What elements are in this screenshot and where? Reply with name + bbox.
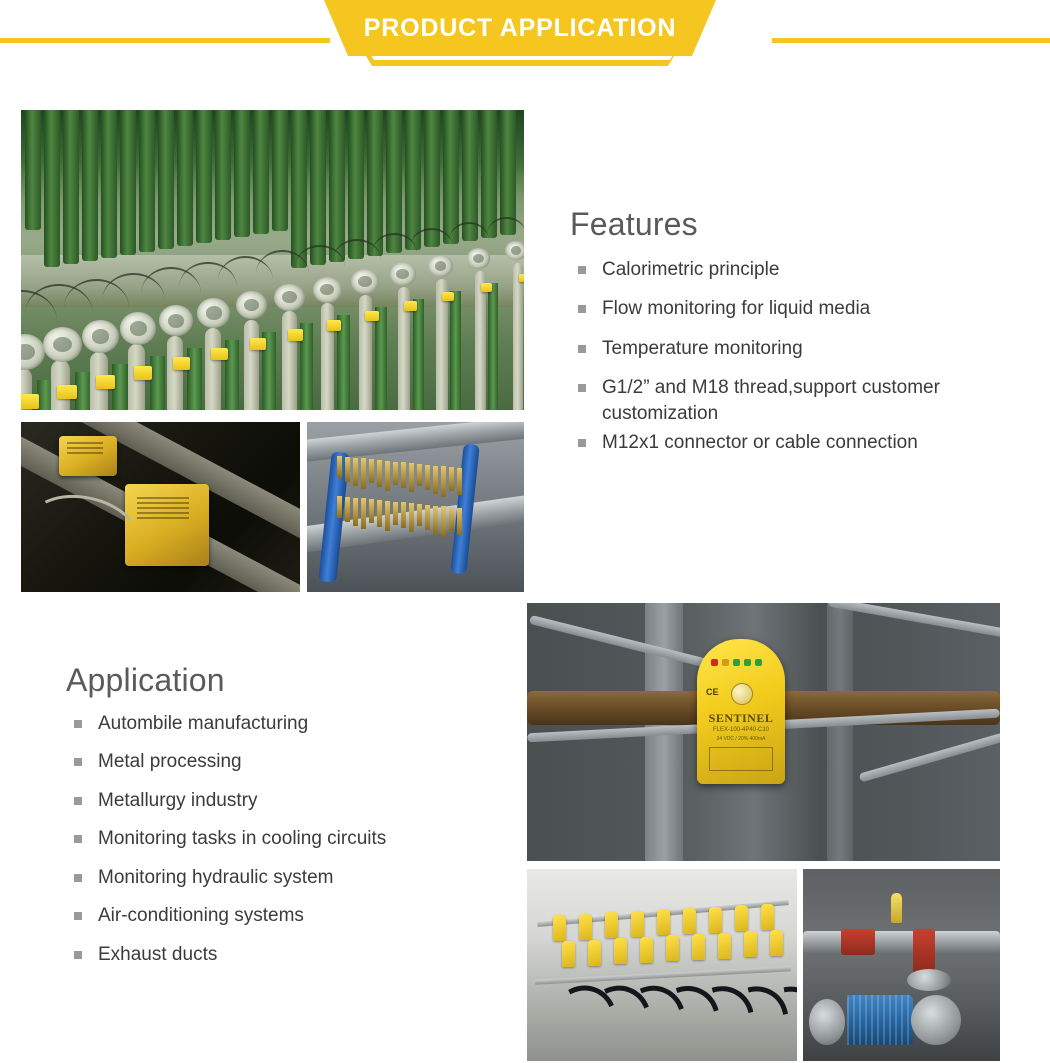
rack-yellow-sensor — [579, 914, 592, 940]
feature-item-label: M12x1 connector or cable connection — [602, 432, 918, 453]
pipe-column — [443, 110, 459, 244]
vertical-pipe — [150, 356, 165, 410]
yellow-flow-sensor — [21, 394, 39, 409]
u-bend-pipe — [513, 263, 523, 410]
page-header-banner: PRODUCT APPLICATION — [0, 0, 1050, 90]
led-green-2 — [744, 659, 751, 666]
manifold-tick — [393, 502, 398, 525]
banner-rule-right — [772, 38, 1050, 43]
manifold-tick — [441, 506, 446, 537]
manifold-tick — [401, 462, 406, 488]
photo-industrial-pipe-hall — [21, 110, 524, 410]
vertical-pipe — [413, 299, 424, 410]
square-bullet-icon — [578, 439, 586, 447]
pipe-column — [424, 110, 440, 247]
application-item: Metallurgy industry — [66, 788, 516, 813]
manifold-tick — [449, 467, 454, 491]
manifold-tick — [417, 504, 422, 526]
pipe-column — [44, 110, 60, 267]
wall-panel-2 — [827, 603, 853, 861]
led-green-3 — [755, 659, 762, 666]
application-list: Autombile manufacturingMetal processingM… — [66, 711, 516, 967]
pipe-column — [177, 110, 193, 246]
blue-pump-motor — [847, 995, 913, 1045]
square-bullet-icon — [74, 835, 82, 843]
rack-yellow-sensor — [562, 941, 575, 967]
pipe-column — [196, 110, 212, 243]
red-valve-2 — [913, 929, 935, 973]
vertical-pipe — [375, 307, 387, 410]
u-bend-pipe — [167, 336, 183, 410]
application-heading: Application — [66, 662, 516, 699]
manifold-tick — [425, 505, 430, 530]
features-heading: Features — [570, 206, 1000, 243]
square-bullet-icon — [74, 874, 82, 882]
u-bend-pipe — [475, 271, 486, 410]
pipe-column — [101, 110, 117, 258]
manifold-tick — [385, 501, 390, 531]
manifold-tick — [377, 500, 382, 527]
pipe-column — [310, 110, 326, 265]
feature-item: G1/2” and M18 thread,support customer cu… — [570, 375, 1000, 426]
sensor-secondary — [59, 436, 117, 476]
manifold-tick — [457, 468, 462, 495]
coupling-guard — [809, 999, 845, 1045]
features-list: Calorimetric principleFlow monitoring fo… — [570, 257, 1000, 456]
photo-blue-manifold — [307, 422, 524, 592]
photo-sensor-rack — [527, 869, 797, 1061]
manifold-tick — [425, 465, 430, 490]
ce-mark: CE — [706, 687, 719, 697]
application-item: Monitoring hydraulic system — [66, 865, 516, 890]
rack-yellow-sensor — [588, 940, 601, 966]
application-item-label: Metallurgy industry — [98, 790, 257, 811]
manifold-tick — [345, 457, 350, 482]
yellow-flow-sensor — [891, 893, 902, 923]
yellow-flow-sensor — [365, 311, 379, 321]
square-bullet-icon — [74, 912, 82, 920]
pipe-column — [234, 110, 250, 237]
application-item-label: Monitoring hydraulic system — [98, 867, 333, 888]
pipe-column — [82, 110, 98, 261]
manifold-tick — [361, 458, 366, 489]
feature-item: M12x1 connector or cable connection — [570, 430, 1000, 455]
manifold-tick — [337, 496, 342, 518]
feature-item-label: Flow monitoring for liquid media — [602, 298, 870, 319]
square-bullet-icon — [578, 384, 586, 392]
rack-yellow-sensor — [709, 907, 722, 933]
vertical-pipe — [75, 372, 91, 410]
page-title: PRODUCT APPLICATION — [364, 14, 676, 43]
manifold-tick — [353, 458, 358, 486]
vertical-pipe — [488, 283, 498, 410]
rack-yellow-sensor — [770, 930, 783, 956]
photo-sentinel-sensor-on-pipe: CE SENTINEL FLEX-100-4P40-C10 24 VDC / 2… — [527, 603, 1000, 861]
manifold-tick — [417, 464, 422, 486]
rack-yellow-sensor — [640, 937, 653, 963]
rack-yellow-sensor — [631, 911, 644, 937]
manifold-tick — [409, 503, 414, 532]
manifold-tick — [353, 498, 358, 526]
application-section: Application Autombile manufacturingMetal… — [66, 662, 516, 967]
rack-yellow-sensor — [657, 909, 670, 935]
sentinel-flow-sensor: CE SENTINEL FLEX-100-4P40-C10 24 VDC / 2… — [697, 639, 785, 784]
sensor-wire — [410, 228, 453, 267]
square-bullet-icon — [74, 797, 82, 805]
device-spec-label: 24 VDC / 20% 400mA — [703, 736, 779, 742]
adjustment-dial[interactable] — [731, 683, 753, 705]
yellow-flow-sensor — [288, 329, 303, 340]
pipe-column — [405, 110, 421, 250]
square-bullet-icon — [74, 720, 82, 728]
pipe-column — [25, 110, 41, 230]
pipe-column — [158, 110, 174, 249]
feature-item: Flow monitoring for liquid media — [570, 296, 1000, 321]
feature-item: Calorimetric principle — [570, 257, 1000, 282]
led-amber — [722, 659, 729, 666]
rack-yellow-sensor — [553, 915, 566, 941]
square-bullet-icon — [578, 305, 586, 313]
u-bend-pipe — [282, 311, 296, 410]
manifold-tick — [369, 459, 374, 483]
yellow-flow-sensor — [327, 320, 341, 331]
pipe-column — [291, 110, 307, 268]
square-bullet-icon — [578, 345, 586, 353]
manifold-tick — [369, 499, 374, 523]
pipe-column — [215, 110, 231, 240]
photo-pump-station — [803, 869, 1000, 1061]
banner-rule-left — [0, 38, 330, 43]
manifold-tick — [433, 506, 438, 534]
application-item: Air-conditioning systems — [66, 903, 516, 928]
yellow-flow-sensor — [57, 385, 76, 399]
pipe-column — [348, 110, 364, 259]
photo-sensor-closeup-dark — [21, 422, 300, 592]
features-section: Features Calorimetric principleFlow moni… — [570, 206, 1000, 456]
rack-yellow-sensor — [735, 905, 748, 931]
square-bullet-icon — [578, 266, 586, 274]
yellow-flow-sensor — [519, 274, 524, 282]
manifold-tick — [345, 497, 350, 522]
led-green-1 — [733, 659, 740, 666]
u-bend-pipe — [244, 320, 259, 410]
feature-item-label: G1/2” and M18 thread,support customer cu… — [602, 377, 940, 423]
yellow-flow-sensor — [442, 292, 454, 301]
manifold-tick — [441, 466, 446, 497]
yellow-flow-sensor — [250, 338, 266, 350]
application-item: Exhaust ducts — [66, 942, 516, 967]
application-item: Autombile manufacturing — [66, 711, 516, 736]
manifold-tick — [401, 502, 406, 528]
rack-yellow-sensor — [666, 935, 679, 961]
rack-yellow-sensor — [683, 908, 696, 934]
application-item: Metal processing — [66, 749, 516, 774]
red-valve-1 — [841, 929, 875, 955]
sensor-wire — [487, 217, 524, 252]
manifold-tick — [385, 461, 390, 491]
banner-plate: PRODUCT APPLICATION — [300, 0, 740, 56]
pipe-column — [272, 110, 288, 231]
pipe-column — [386, 110, 402, 253]
application-item-label: Metal processing — [98, 751, 242, 772]
device-brand-label: SENTINEL — [703, 711, 779, 726]
rack-yellow-sensor — [718, 933, 731, 959]
manifold-tick — [457, 508, 462, 535]
led-red — [711, 659, 718, 666]
yellow-flow-sensor — [404, 301, 417, 311]
feature-item-label: Calorimetric principle — [602, 259, 779, 280]
manifold-tick — [337, 456, 342, 478]
u-bend-pipe — [205, 328, 221, 410]
application-item-label: Monitoring tasks in cooling circuits — [98, 828, 386, 849]
rack-yellow-sensor — [605, 912, 618, 938]
vertical-pipe — [450, 291, 461, 410]
feature-item: Temperature monitoring — [570, 336, 1000, 361]
manifold-tick — [409, 463, 414, 492]
yellow-flow-sensor — [96, 375, 115, 389]
yellow-flow-sensor — [173, 357, 190, 370]
manifold-tick — [377, 460, 382, 487]
manifold-tick — [393, 462, 398, 485]
pipe-column — [481, 110, 497, 238]
yellow-flow-sensor — [134, 366, 152, 379]
rack-yellow-sensor — [692, 934, 705, 960]
valve-flange — [907, 969, 951, 991]
square-bullet-icon — [74, 951, 82, 959]
pipe-column — [120, 110, 136, 255]
feature-item-label: Temperature monitoring — [602, 338, 803, 359]
pipe-column — [63, 110, 79, 264]
application-item-label: Air-conditioning systems — [98, 905, 304, 926]
application-item: Monitoring tasks in cooling circuits — [66, 826, 516, 851]
manifold-tick — [449, 507, 454, 531]
application-item-label: Exhaust ducts — [98, 944, 217, 965]
led-indicator-row — [711, 659, 762, 666]
pipe-column — [367, 110, 383, 256]
device-info-box — [709, 747, 773, 771]
yellow-flow-sensor — [211, 348, 228, 360]
device-model-label: FLEX-100-4P40-C10 — [703, 727, 779, 733]
rack-yellow-sensor — [614, 938, 627, 964]
square-bullet-icon — [74, 758, 82, 766]
pipe-column — [253, 110, 269, 234]
rack-yellow-sensor — [744, 931, 757, 957]
rack-yellow-sensor — [761, 904, 774, 930]
sensor-primary — [125, 484, 209, 566]
pipe-column — [329, 110, 345, 262]
pump-housing — [911, 995, 961, 1045]
application-item-label: Autombile manufacturing — [98, 713, 308, 734]
yellow-flow-sensor — [481, 283, 493, 292]
manifold-tick — [433, 466, 438, 494]
pipe-column — [139, 110, 155, 252]
main-header-pipe — [803, 931, 1000, 953]
manifold-tick — [361, 498, 366, 529]
